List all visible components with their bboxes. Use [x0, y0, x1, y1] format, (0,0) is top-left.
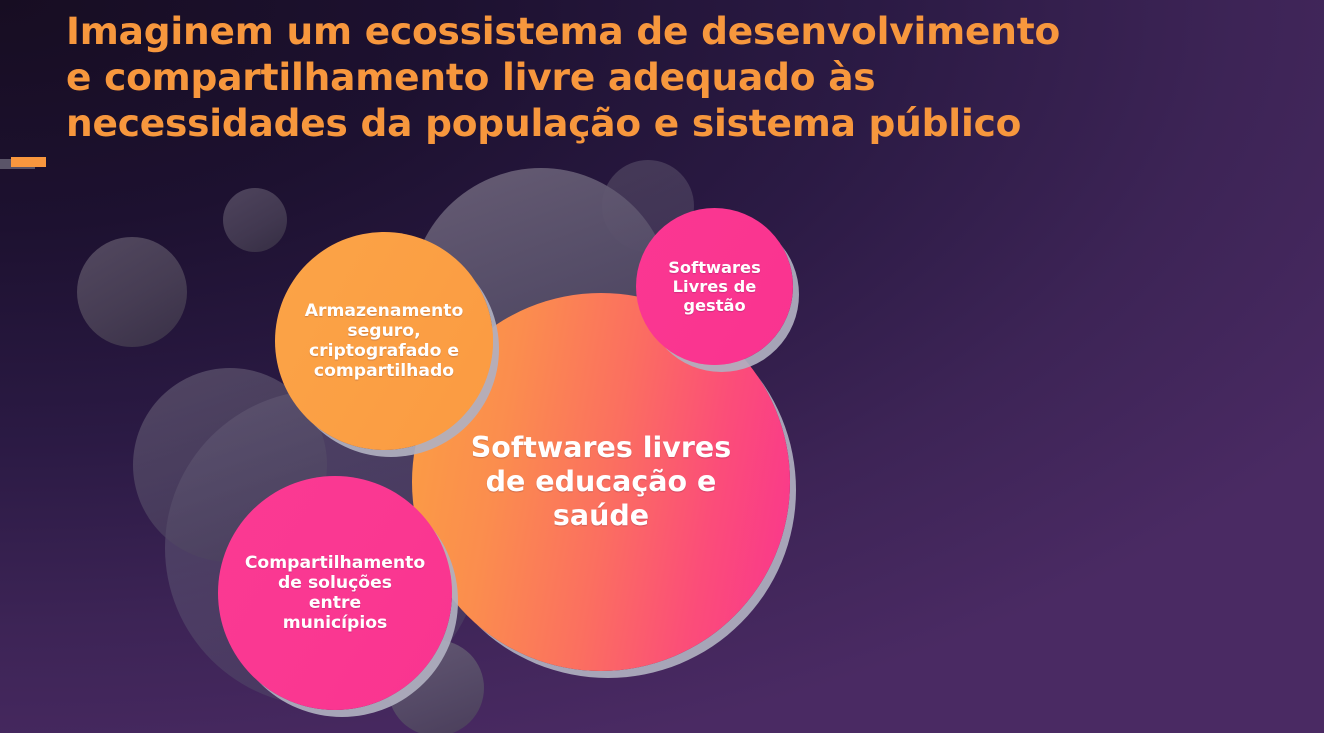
- bubble-armazenamento-seguro[interactable]: Armazenamento seguro, criptografado e co…: [275, 232, 493, 450]
- bubble-softwares-livres-gestao[interactable]: Softwares Livres de gestão: [636, 208, 793, 365]
- bubble-compartilhamento-solucoes[interactable]: Compartilhamento de soluções entre munic…: [218, 476, 452, 710]
- bubble-gestao-label: Softwares Livres de gestão: [655, 258, 775, 315]
- title-accent-bar: [11, 157, 46, 167]
- slide-canvas: Imaginem um ecossistema de desenvolvimen…: [0, 0, 1324, 733]
- decorative-circle-small-top: [223, 188, 287, 252]
- bubble-main-label: Softwares livres de educação e saúde: [455, 431, 747, 533]
- bubble-armazenamento-label: Armazenamento seguro, criptografado e co…: [295, 301, 473, 382]
- decorative-circle-left-upper: [77, 237, 187, 347]
- slide-title: Imaginem um ecossistema de desenvolvimen…: [66, 8, 1246, 146]
- bubble-compartilhamento-label: Compartilhamento de soluções entre munic…: [235, 553, 435, 634]
